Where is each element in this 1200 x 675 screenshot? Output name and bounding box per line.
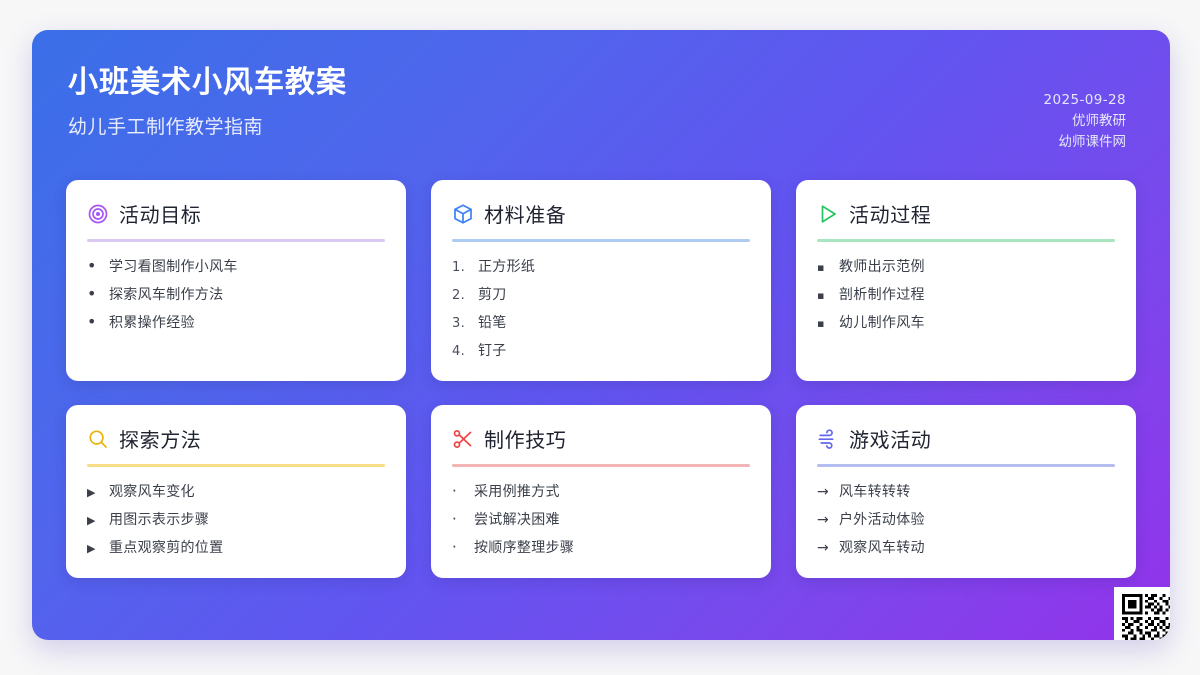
list-marker: 1. (452, 258, 470, 278)
list-marker: • (87, 286, 101, 302)
header-date: 2025-09-28 (1044, 90, 1126, 111)
list-item-text: 剖析制作过程 (839, 285, 925, 306)
card-header: 制作技巧 (452, 424, 750, 453)
poster-header: 小班美术小风车教案 幼儿手工制作教学指南 2025-09-28 优师教研 幼师课… (32, 30, 1170, 180)
card-grid: 活动目标•学习看图制作小风车•探索风车制作方法•积累操作经验材料准备1.正方形纸… (32, 180, 1170, 578)
list-item: 2.剪刀 (452, 281, 750, 309)
card-4: 探索方法▶观察风车变化▶用图示表示步骤▶重点观察剪的位置 (66, 405, 406, 578)
list-item: ▪剖析制作过程 (817, 281, 1115, 309)
list-marker: 2. (452, 286, 470, 306)
list-item-text: 采用例推方式 (474, 482, 560, 503)
card-divider (817, 239, 1115, 242)
list-item-text: 探索风车制作方法 (109, 285, 223, 306)
card-title: 制作技巧 (484, 424, 566, 453)
page-title: 小班美术小风车教案 (68, 64, 1130, 102)
list-item-text: 钉子 (478, 341, 507, 362)
list-item-text: 幼儿制作风车 (839, 313, 925, 334)
list-item-text: 观察风车变化 (109, 482, 195, 503)
list-item: →观察风车转动 (817, 534, 1115, 562)
list-marker: ▪ (817, 260, 831, 277)
list-item-text: 观察风车转动 (839, 538, 925, 559)
list-marker: · (452, 540, 466, 555)
card-2: 材料准备1.正方形纸2.剪刀3.铅笔4.钉子 (431, 180, 771, 381)
card-3: 活动过程▪教师出示范例▪剖析制作过程▪幼儿制作风车 (796, 180, 1136, 381)
list-item: ▶用图示表示步骤 (87, 506, 385, 534)
list-item-text: 按顺序整理步骤 (474, 538, 574, 559)
list-item-text: 教师出示范例 (839, 257, 925, 278)
list-item-text: 尝试解决困难 (474, 510, 560, 531)
header-org: 优师教研 (1044, 111, 1126, 132)
card-item-list: →风车转转转→户外活动体验→观察风车转动 (817, 478, 1115, 562)
card-title: 活动目标 (119, 199, 201, 228)
card-header: 活动目标 (87, 199, 385, 228)
card-item-list: ▪教师出示范例▪剖析制作过程▪幼儿制作风车 (817, 253, 1115, 337)
card-item-list: 1.正方形纸2.剪刀3.铅笔4.钉子 (452, 253, 750, 365)
wind-icon (817, 428, 839, 450)
list-item: →风车转转转 (817, 478, 1115, 506)
list-item-text: 风车转转转 (839, 482, 911, 503)
list-marker: → (817, 482, 831, 503)
list-item: ·按顺序整理步骤 (452, 534, 750, 562)
search-icon (87, 428, 109, 450)
card-title: 游戏活动 (849, 424, 931, 453)
list-marker: 3. (452, 314, 470, 334)
play-triangle-icon (817, 203, 839, 225)
list-marker: 4. (452, 342, 470, 362)
card-title: 活动过程 (849, 199, 931, 228)
list-item: ·尝试解决困难 (452, 506, 750, 534)
card-divider (817, 464, 1115, 467)
list-item: ▶观察风车变化 (87, 478, 385, 506)
list-item: →户外活动体验 (817, 506, 1115, 534)
list-item: •积累操作经验 (87, 309, 385, 337)
list-item-text: 正方形纸 (478, 257, 535, 278)
card-header: 探索方法 (87, 424, 385, 453)
card-title: 材料准备 (484, 199, 566, 228)
card-item-list: •学习看图制作小风车•探索风车制作方法•积累操作经验 (87, 253, 385, 337)
header-meta: 2025-09-28 优师教研 幼师课件网 (1044, 90, 1126, 153)
list-item-text: 户外活动体验 (839, 510, 925, 531)
card-1: 活动目标•学习看图制作小风车•探索风车制作方法•积累操作经验 (66, 180, 406, 381)
card-divider (452, 239, 750, 242)
list-item-text: 学习看图制作小风车 (109, 257, 238, 278)
list-item: ▪教师出示范例 (817, 253, 1115, 281)
card-divider (87, 464, 385, 467)
list-item-text: 积累操作经验 (109, 313, 195, 334)
package-icon (452, 203, 474, 225)
poster-canvas: 小班美术小风车教案 幼儿手工制作教学指南 2025-09-28 优师教研 幼师课… (32, 30, 1170, 640)
card-header: 材料准备 (452, 199, 750, 228)
list-item: 3.铅笔 (452, 309, 750, 337)
list-marker: • (87, 258, 101, 274)
list-marker: · (452, 484, 466, 499)
list-item: •学习看图制作小风车 (87, 253, 385, 281)
list-marker: ▶ (87, 541, 101, 558)
list-marker: → (817, 538, 831, 559)
card-5: 制作技巧·采用例推方式·尝试解决困难·按顺序整理步骤 (431, 405, 771, 578)
qr-code[interactable] (1114, 587, 1170, 640)
card-item-list: ▶观察风车变化▶用图示表示步骤▶重点观察剪的位置 (87, 478, 385, 562)
card-6: 游戏活动→风车转转转→户外活动体验→观察风车转动 (796, 405, 1136, 578)
list-marker: ▶ (87, 485, 101, 502)
list-item: 4.钉子 (452, 337, 750, 365)
card-header: 活动过程 (817, 199, 1115, 228)
list-item: 1.正方形纸 (452, 253, 750, 281)
list-marker: ▶ (87, 513, 101, 530)
list-marker: • (87, 314, 101, 330)
list-item-text: 重点观察剪的位置 (109, 538, 223, 559)
list-item-text: 剪刀 (478, 285, 507, 306)
list-marker: ▪ (817, 316, 831, 333)
card-divider (87, 239, 385, 242)
header-site: 幼师课件网 (1044, 132, 1126, 153)
list-item-text: 用图示表示步骤 (109, 510, 209, 531)
target-icon (87, 203, 109, 225)
card-header: 游戏活动 (817, 424, 1115, 453)
list-marker: → (817, 510, 831, 531)
list-item: ▪幼儿制作风车 (817, 309, 1115, 337)
scissors-icon (452, 428, 474, 450)
list-marker: ▪ (817, 288, 831, 305)
list-item: •探索风车制作方法 (87, 281, 385, 309)
list-item-text: 铅笔 (478, 313, 507, 334)
card-divider (452, 464, 750, 467)
card-title: 探索方法 (119, 424, 201, 453)
list-item: ▶重点观察剪的位置 (87, 534, 385, 562)
list-marker: · (452, 512, 466, 527)
list-item: ·采用例推方式 (452, 478, 750, 506)
card-item-list: ·采用例推方式·尝试解决困难·按顺序整理步骤 (452, 478, 750, 562)
page-subtitle: 幼儿手工制作教学指南 (68, 112, 1130, 139)
